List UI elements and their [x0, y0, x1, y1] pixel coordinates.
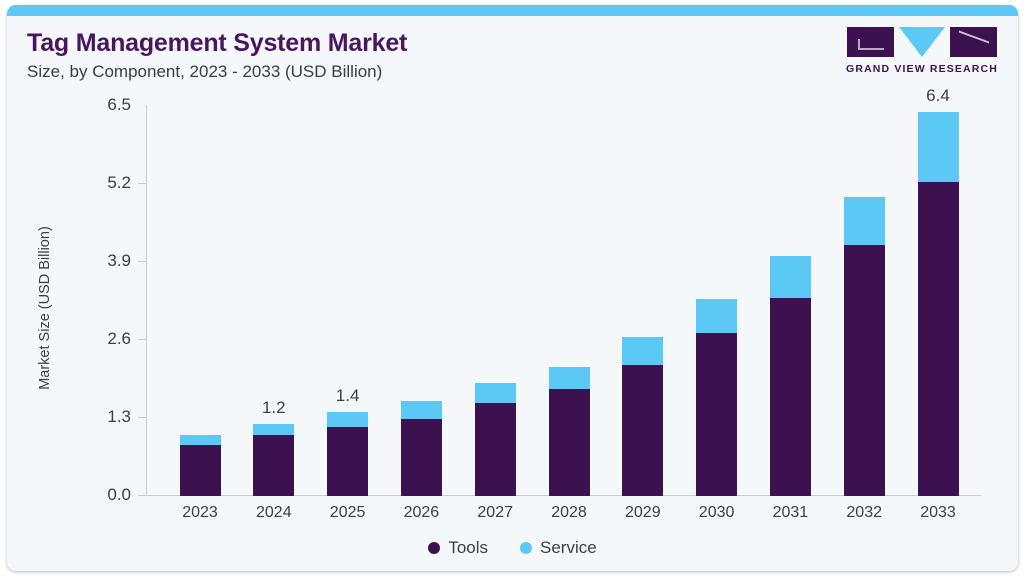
bar-group[interactable]: [475, 383, 516, 496]
y-axis-tick-label: 6.5: [21, 95, 131, 115]
legend-swatch-icon: [520, 542, 532, 554]
chart-legend: ToolsService: [7, 538, 1018, 558]
y-axis-tick-mark: [138, 495, 146, 496]
legend-item[interactable]: Service: [520, 538, 597, 558]
y-axis-tick-mark: [138, 183, 146, 184]
bar-value-label: 1.4: [336, 386, 360, 406]
chart-plot-area: Market Size (USD Billion) 0.01.32.63.95.…: [7, 5, 1018, 571]
bar-segment-tools[interactable]: [327, 427, 368, 496]
y-axis-tick-label: 5.2: [21, 173, 131, 193]
bar-segment-service[interactable]: [549, 367, 590, 389]
x-axis-tick-label: 2032: [829, 504, 899, 522]
x-axis-tick-label: 2024: [239, 504, 309, 522]
y-axis-title: Market Size (USD Billion): [37, 203, 53, 413]
legend-label: Service: [540, 538, 597, 558]
bar-segment-service[interactable]: [327, 412, 368, 427]
bar-group[interactable]: 6.4: [918, 112, 959, 496]
bar-segment-service[interactable]: [253, 424, 294, 435]
bar-group[interactable]: [549, 367, 590, 496]
x-axis-tick-label: 2027: [460, 504, 530, 522]
bar-segment-service[interactable]: [770, 256, 811, 298]
bar-segment-service[interactable]: [696, 299, 737, 333]
bar-segment-tools[interactable]: [253, 435, 294, 496]
y-axis-tick-label: 1.3: [21, 407, 131, 427]
y-axis-tick-mark: [138, 339, 146, 340]
bar-segment-tools[interactable]: [622, 365, 663, 496]
screenshot-root: Tag Management System Market Size, by Co…: [0, 0, 1025, 576]
y-axis-tick-label: 0.0: [21, 485, 131, 505]
bar-group[interactable]: [401, 401, 442, 496]
x-axis-tick-label: 2031: [755, 504, 825, 522]
chart-card: Tag Management System Market Size, by Co…: [7, 5, 1018, 571]
bar-segment-service[interactable]: [401, 401, 442, 418]
x-axis-tick-label: 2025: [313, 504, 383, 522]
bar-segment-tools[interactable]: [770, 298, 811, 496]
bar-segment-tools[interactable]: [696, 333, 737, 496]
bar-value-label: 6.4: [926, 86, 950, 106]
bar-segment-service[interactable]: [918, 112, 959, 182]
bar-group[interactable]: [180, 435, 221, 496]
legend-label: Tools: [448, 538, 488, 558]
legend-swatch-icon: [428, 542, 440, 554]
bar-group[interactable]: 1.2: [253, 424, 294, 496]
x-axis-tick-label: 2033: [903, 504, 973, 522]
bar-segment-service[interactable]: [844, 197, 885, 246]
x-axis-tick-label: 2026: [386, 504, 456, 522]
bar-group[interactable]: [770, 256, 811, 496]
x-axis-tick-label: 2023: [165, 504, 235, 522]
bar-segment-tools[interactable]: [844, 245, 885, 496]
y-axis-tick-label: 3.9: [21, 251, 131, 271]
x-axis-tick-label: 2029: [608, 504, 678, 522]
y-axis-tick-mark: [138, 417, 146, 418]
bar-value-label: 1.2: [262, 398, 286, 418]
bar-group[interactable]: 1.4: [327, 412, 368, 496]
bar-segment-tools[interactable]: [918, 182, 959, 496]
y-axis-tick-mark: [138, 261, 146, 262]
y-axis-tick-label: 2.6: [21, 329, 131, 349]
bar-segment-service[interactable]: [475, 383, 516, 403]
bar-segment-tools[interactable]: [549, 389, 590, 496]
bar-group[interactable]: [844, 197, 885, 496]
legend-item[interactable]: Tools: [428, 538, 488, 558]
bar-group[interactable]: [622, 337, 663, 496]
bar-segment-service[interactable]: [622, 337, 663, 365]
x-axis-tick-label: 2030: [682, 504, 752, 522]
bar-group[interactable]: [696, 299, 737, 496]
bar-segment-tools[interactable]: [401, 419, 442, 496]
bar-segment-service[interactable]: [180, 435, 221, 445]
bar-segment-tools[interactable]: [180, 445, 221, 496]
bars-layer: 1.21.46.4: [146, 105, 981, 496]
bar-segment-tools[interactable]: [475, 403, 516, 496]
x-axis-tick-label: 2028: [534, 504, 604, 522]
